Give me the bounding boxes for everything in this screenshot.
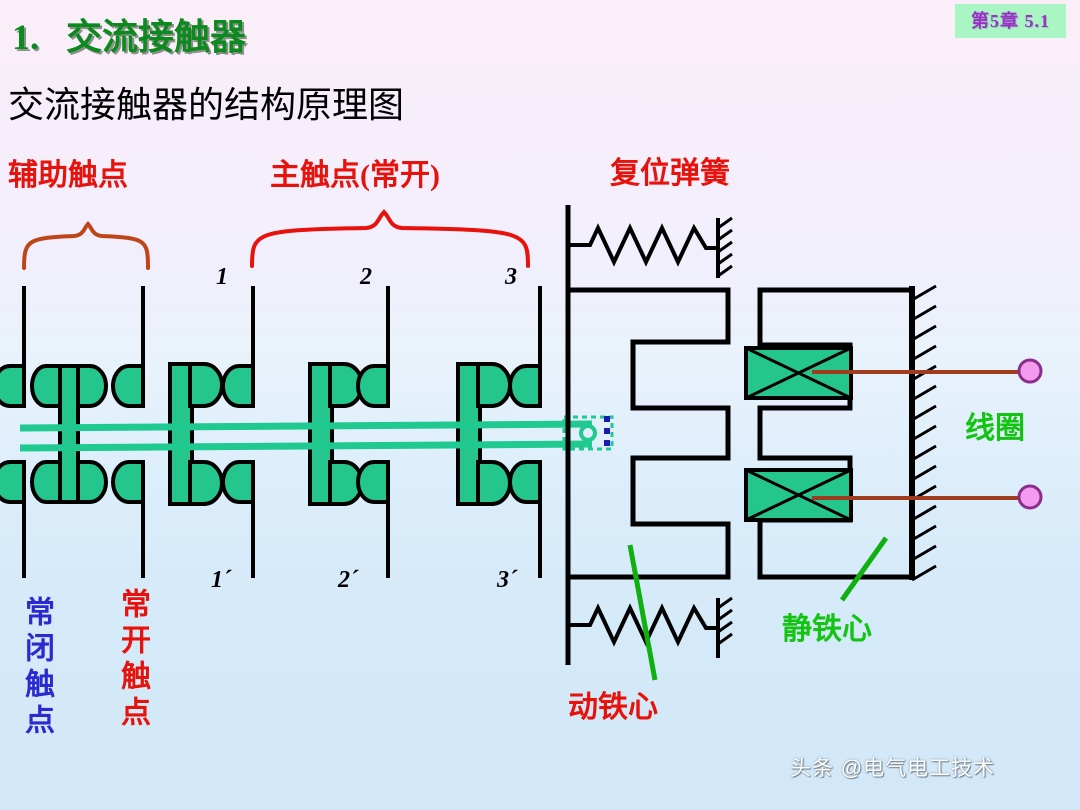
- moving-contact-pad-main-3-bottom: [478, 462, 510, 504]
- watermark: 头条 @电气电工技术: [790, 752, 995, 782]
- fixed-contact-pad-main-2-bottom: [358, 462, 388, 502]
- moving-contact-pad-nc-top-right: [76, 366, 106, 406]
- static-core: [760, 290, 912, 577]
- coil-terminal-top[interactable]: [1019, 360, 1041, 382]
- fixed-contact-pad-main-3-bottom: [510, 462, 540, 502]
- slide-root: 第5章 5.1 1. 交流接触器 交流接触器的结构原理图 辅助触点 主触点(常开…: [0, 0, 1080, 810]
- moving-contact-pad-main-1-top: [190, 364, 222, 406]
- leader-line-static-core: [842, 538, 886, 600]
- contact-group-main-3: [458, 364, 510, 504]
- connecting-rod: [20, 424, 592, 448]
- fixed-contact-pad-main-2-top: [358, 366, 388, 406]
- brace-main-contacts: [252, 212, 528, 266]
- fixed-contact-pad-aux-bottom: [113, 462, 143, 502]
- brace-auxiliary-contacts: [24, 224, 148, 268]
- coil-winding-lower: [746, 470, 851, 520]
- moving-contact-pad-nc-bottom-left: [32, 462, 60, 502]
- moving-contact-pad-nc-bottom-right: [76, 462, 106, 502]
- contact-group-nc: [32, 366, 106, 502]
- reset-spring-top: [568, 218, 732, 278]
- contact-bridge-bar-nc: [60, 366, 78, 502]
- mounting-wall-hatching: [912, 286, 936, 580]
- fixed-contact-pad-main-1-bottom: [223, 462, 253, 502]
- moving-contact-pad-main-3-top: [478, 364, 510, 406]
- contactor-schematic-diagram: [0, 0, 1080, 810]
- fixed-contact-pad-nc-top-left: [0, 366, 24, 406]
- moving-contact-pad-nc-top-left: [32, 366, 60, 406]
- moving-core-armature: [568, 290, 728, 577]
- contact-leads-top: [24, 286, 540, 372]
- fixed-contact-pad-aux-top: [113, 366, 143, 406]
- contact-group-main-2: [310, 364, 362, 504]
- contact-group-main-1: [170, 364, 222, 504]
- fixed-contact-pad-main-1-top: [223, 366, 253, 406]
- coil-terminal-bottom[interactable]: [1019, 486, 1041, 508]
- fixed-contact-pad-nc-bottom-left: [0, 462, 24, 502]
- fixed-contact-pad-main-3-top: [510, 366, 540, 406]
- moving-contact-pad-main-1-bottom: [190, 462, 222, 504]
- contact-leads-bottom: [24, 496, 540, 578]
